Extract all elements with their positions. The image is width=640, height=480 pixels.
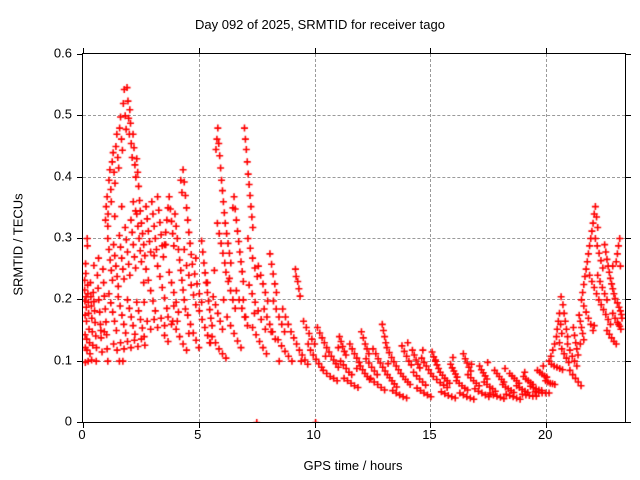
x-tick-label: 10 [284, 427, 344, 442]
y-tick-mark [625, 177, 631, 178]
y-tick-mark [625, 115, 631, 116]
y-tick-label: 0.4 [2, 168, 72, 183]
x-tick-label: 15 [399, 427, 459, 442]
chart-container: Day 092 of 2025, SRMTID for receiver tag… [0, 0, 640, 480]
y-tick-label: 0.1 [2, 352, 72, 367]
x-axis-label: GPS time / hours [82, 458, 624, 473]
x-tick-label: 20 [515, 427, 575, 442]
scatter-markers [83, 54, 625, 422]
y-tick-mark [625, 422, 631, 423]
chart-title: Day 092 of 2025, SRMTID for receiver tag… [0, 17, 640, 32]
y-tick-label: 0.3 [2, 230, 72, 245]
y-tick-label: 0.2 [2, 291, 72, 306]
x-tick-label: 0 [52, 427, 112, 442]
x-tick-label: 5 [168, 427, 228, 442]
y-tick-mark [625, 361, 631, 362]
y-tick-mark [625, 299, 631, 300]
y-tick-mark [625, 238, 631, 239]
y-tick-label: 0.5 [2, 107, 72, 122]
plot-area [82, 53, 626, 423]
y-tick-mark [625, 54, 631, 55]
y-tick-label: 0.6 [2, 46, 72, 61]
